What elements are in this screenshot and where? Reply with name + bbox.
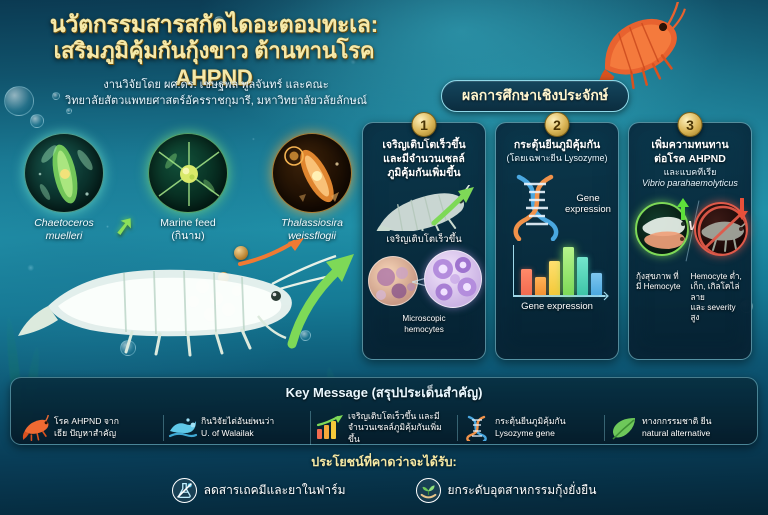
result-panel-2: 2 กระตุ้นยีนภูมิคุ้มกัน (โดยเฉพาะยีน Lys… bbox=[495, 122, 619, 360]
benefit-item-sustainable-industry: ยกระดับอุตสาหกรรมกุ้งยั่งยืน bbox=[416, 478, 597, 503]
down-arrow-red-icon bbox=[735, 198, 749, 220]
section-badge: ผลการศึกษาเชิงประจักษ์ bbox=[441, 80, 629, 112]
benefits-row: ลดสารเถคมีและยาในฟาร์ม ยกระดับอุตสาหกรรม… bbox=[10, 478, 758, 503]
byline-line-1: งานวิจัยโดย ผศ.ดร. เชษฐพล พูลจันทร์ และค… bbox=[26, 78, 406, 94]
benefit-label: ยกระดับอุตสาหกรรมกุ้งยั่งยืน bbox=[448, 481, 597, 500]
chart-bar bbox=[577, 257, 588, 295]
algae-item-marine-feed: Marine feed (กินาม) bbox=[142, 133, 234, 243]
results-panels: 1 เจริญเติบโตเร็วขึ้น และมีจำนวนเซลล์ ภู… bbox=[362, 122, 760, 360]
gene-expression-bar-chart bbox=[509, 245, 605, 297]
chart-axis-arrow-icon bbox=[599, 291, 609, 301]
panel-number-badge: 3 bbox=[678, 112, 703, 137]
up-arrow-green-icon bbox=[676, 198, 690, 220]
byline-line-2: วิทยาลัยสัตวแพทยศาสตร์อัครราชกุมารี, มหา… bbox=[26, 94, 406, 110]
key-message-title: Key Message (สรุปประเด็นสำคัญ) bbox=[11, 382, 757, 403]
benefits-title: ประโยชน์ที่คาดว่าจะได้รับ: bbox=[10, 452, 758, 472]
diatom-chaetoceros-icon bbox=[24, 133, 104, 213]
chart-axis-label: Gene expression bbox=[501, 301, 613, 313]
result-panel-1: 1 เจริญเติบโตเร็วขึ้น และมีจำนวนเซลล์ ภู… bbox=[362, 122, 486, 360]
key-message-text: กระตุ้นยีนภูมิคุ้มกัน Lysozyme gene bbox=[495, 416, 566, 439]
key-message-item-lysozyme: กระตุ้นยีนภูมิคุ้มกัน Lysozyme gene bbox=[457, 415, 604, 441]
dna-helix-icon bbox=[507, 173, 567, 241]
hemocyte-cells-icon bbox=[424, 250, 482, 308]
key-message-item-ahpnd: โรค AHPND จาก เธีย ปัญหาสำคัญ bbox=[17, 415, 163, 441]
diatom-thalassiosira-icon bbox=[272, 133, 352, 213]
healthy-shrimp-label: กุ้งสุขภาพ ที่ มี Hemocyte bbox=[634, 272, 687, 323]
key-message-box: Key Message (สรุปประเด็นสำคัญ) bbox=[10, 377, 758, 445]
shrimp-icon bbox=[21, 415, 49, 441]
poster-header: นวัตกรรมสารสกัดไดอะตอมทะเล: เสริมภูมิคุ้… bbox=[0, 0, 768, 120]
tissue-section-icon bbox=[368, 256, 418, 306]
key-message-item-walailak: กินวิจัยไต่อันย่พนว่า U. of Walailak bbox=[163, 415, 310, 441]
chart-x-axis bbox=[513, 295, 605, 296]
poster-byline: งานวิจัยโดย ผศ.ดร. เชษฐพล พูลจันทร์ และค… bbox=[26, 78, 406, 109]
chart-bar bbox=[521, 269, 532, 295]
panel-number-badge: 2 bbox=[545, 112, 570, 137]
sick-shrimp-label: Hemocyte ต่ำ, เก็ก, เกิลโคไล่ลาย และ sev… bbox=[690, 272, 746, 323]
key-message-item-natural: ทางกกรรมชาติ ยีน natural alternative bbox=[604, 415, 751, 441]
benefits-section: ประโยชน์ที่คาดว่าจะได้รับ: ลดสารเถคมีและ… bbox=[10, 452, 758, 507]
diatom-marine-feed-icon bbox=[148, 133, 228, 213]
result-panel-3: 3 เพิ่มความทนทาน ต่อโรค AHPND และแบคทีเร… bbox=[628, 122, 752, 360]
key-message-row: โรค AHPND จาก เธีย ปัญหาสำคัญ กินวิจัยไต… bbox=[11, 408, 757, 448]
dna-label: Gene expression bbox=[559, 193, 617, 217]
dna-helix-icon bbox=[462, 415, 490, 441]
chart-bar bbox=[549, 261, 560, 295]
panel-1-inner-label-2: Microscopic hemocytes bbox=[368, 314, 480, 335]
bar-chart-growth-icon bbox=[315, 415, 343, 441]
key-message-text: โรค AHPND จาก เธีย ปัญหาสำคัญ bbox=[54, 416, 119, 439]
title-line-1: นวัตกรรมสารสกัดไดอะตอมทะเล: bbox=[14, 10, 414, 38]
key-message-text: กินวิจัยไต่อันย่พนว่า U. of Walailak bbox=[201, 416, 274, 439]
chart-bar bbox=[563, 247, 574, 295]
shrimp-growth-icon bbox=[370, 185, 478, 231]
chart-y-axis bbox=[513, 245, 514, 297]
algae-item-chaetoceros: Chaetoceros muelleri bbox=[18, 133, 110, 243]
key-message-text: ทางกกรรมชาติ ยีน natural alternative bbox=[642, 416, 712, 439]
panel-3-title: เพิ่มความทนทาน ต่อโรค AHPND และแบคทีเรีย… bbox=[634, 139, 746, 190]
panel-1-title: เจริญเติบโตเร็วขึ้น และมีจำนวนเซลล์ ภูมิ… bbox=[368, 139, 480, 181]
key-message-item-growth: เจริญเติบโตเร็วขึ้น และมี จำนวนเซลล์ภูมิ… bbox=[310, 411, 457, 446]
algae-item-thalassiosira: Thalassiosira weissflogii bbox=[266, 133, 358, 243]
leaf-icon bbox=[609, 415, 637, 441]
panel-2-title: กระตุ้นยีนภูมิคุ้มกัน (โดยเฉพาะยีน Lysoz… bbox=[501, 139, 613, 165]
no-chemicals-icon bbox=[172, 478, 197, 503]
sustainable-hand-plant-icon bbox=[416, 478, 441, 503]
wave-icon bbox=[168, 415, 196, 441]
panel-number-badge: 1 bbox=[412, 112, 437, 137]
benefit-item-reduce-chemicals: ลดสารเถคมีและยาในฟาร์ม bbox=[172, 478, 346, 503]
arrow-algae-to-feed-icon: ➚ bbox=[112, 210, 137, 243]
panel-1-inner-label: เจริญเติบโตเร็วขึ้น bbox=[368, 234, 480, 246]
arrow-shrimp-to-results-icon bbox=[282, 240, 362, 350]
chart-bar bbox=[535, 277, 546, 295]
benefit-label: ลดสารเถคมีและยาในฟาร์ม bbox=[204, 481, 346, 500]
infographic-poster: นวัตกรรมสารสกัดไดอะตอมทะเล: เสริมภูมิคุ้… bbox=[0, 0, 768, 515]
key-message-text: เจริญเติบโตเร็วขึ้น และมี จำนวนเซลล์ภูมิ… bbox=[348, 411, 453, 446]
